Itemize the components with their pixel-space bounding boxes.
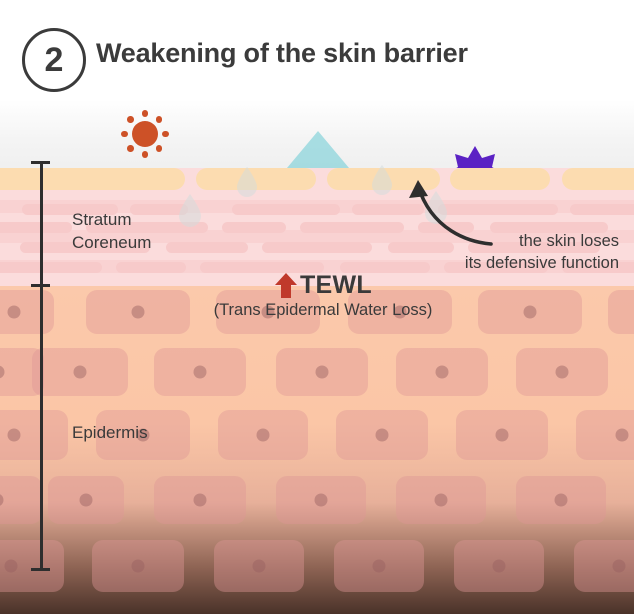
up-arrow-icon — [274, 272, 298, 299]
step-number-badge: 2 — [22, 28, 86, 92]
stratum-corneum-label-line2: Coreneum — [72, 232, 151, 255]
defense-annotation-line1: the skin loses — [404, 230, 619, 252]
scale-tick-top — [31, 161, 50, 164]
scale-tick-bottom — [31, 568, 50, 571]
water-droplet-icon — [178, 193, 202, 227]
water-droplet-icon — [371, 164, 393, 195]
epidermis-label: Epidermis — [72, 423, 148, 443]
sun-core — [132, 121, 158, 147]
infographic-canvas: 2 Weakening of the skin barrier — [0, 0, 634, 614]
epidermis-layer — [0, 286, 634, 614]
page-title: Weakening of the skin barrier — [96, 38, 468, 69]
defense-annotation-line2: its defensive function — [404, 252, 619, 274]
water-droplet-icon — [236, 166, 258, 197]
depth-scale-bar — [40, 162, 43, 570]
skin-surface-band — [0, 168, 634, 190]
tewl-expansion: (Trans Epidermal Water Loss) — [178, 301, 468, 320]
defense-annotation: the skin loses its defensive function — [404, 230, 619, 275]
tewl-annotation: TEWL (Trans Epidermal Water Loss) — [178, 271, 468, 320]
step-number-text: 2 — [45, 43, 64, 77]
tewl-acronym: TEWL — [300, 271, 372, 300]
scale-tick-middle — [31, 284, 50, 287]
stratum-corneum-label-line1: Stratum — [72, 209, 151, 232]
stratum-corneum-label: Stratum Coreneum — [72, 209, 151, 255]
sun-uv-icon — [121, 110, 169, 158]
header: 2 Weakening of the skin barrier — [0, 0, 634, 110]
